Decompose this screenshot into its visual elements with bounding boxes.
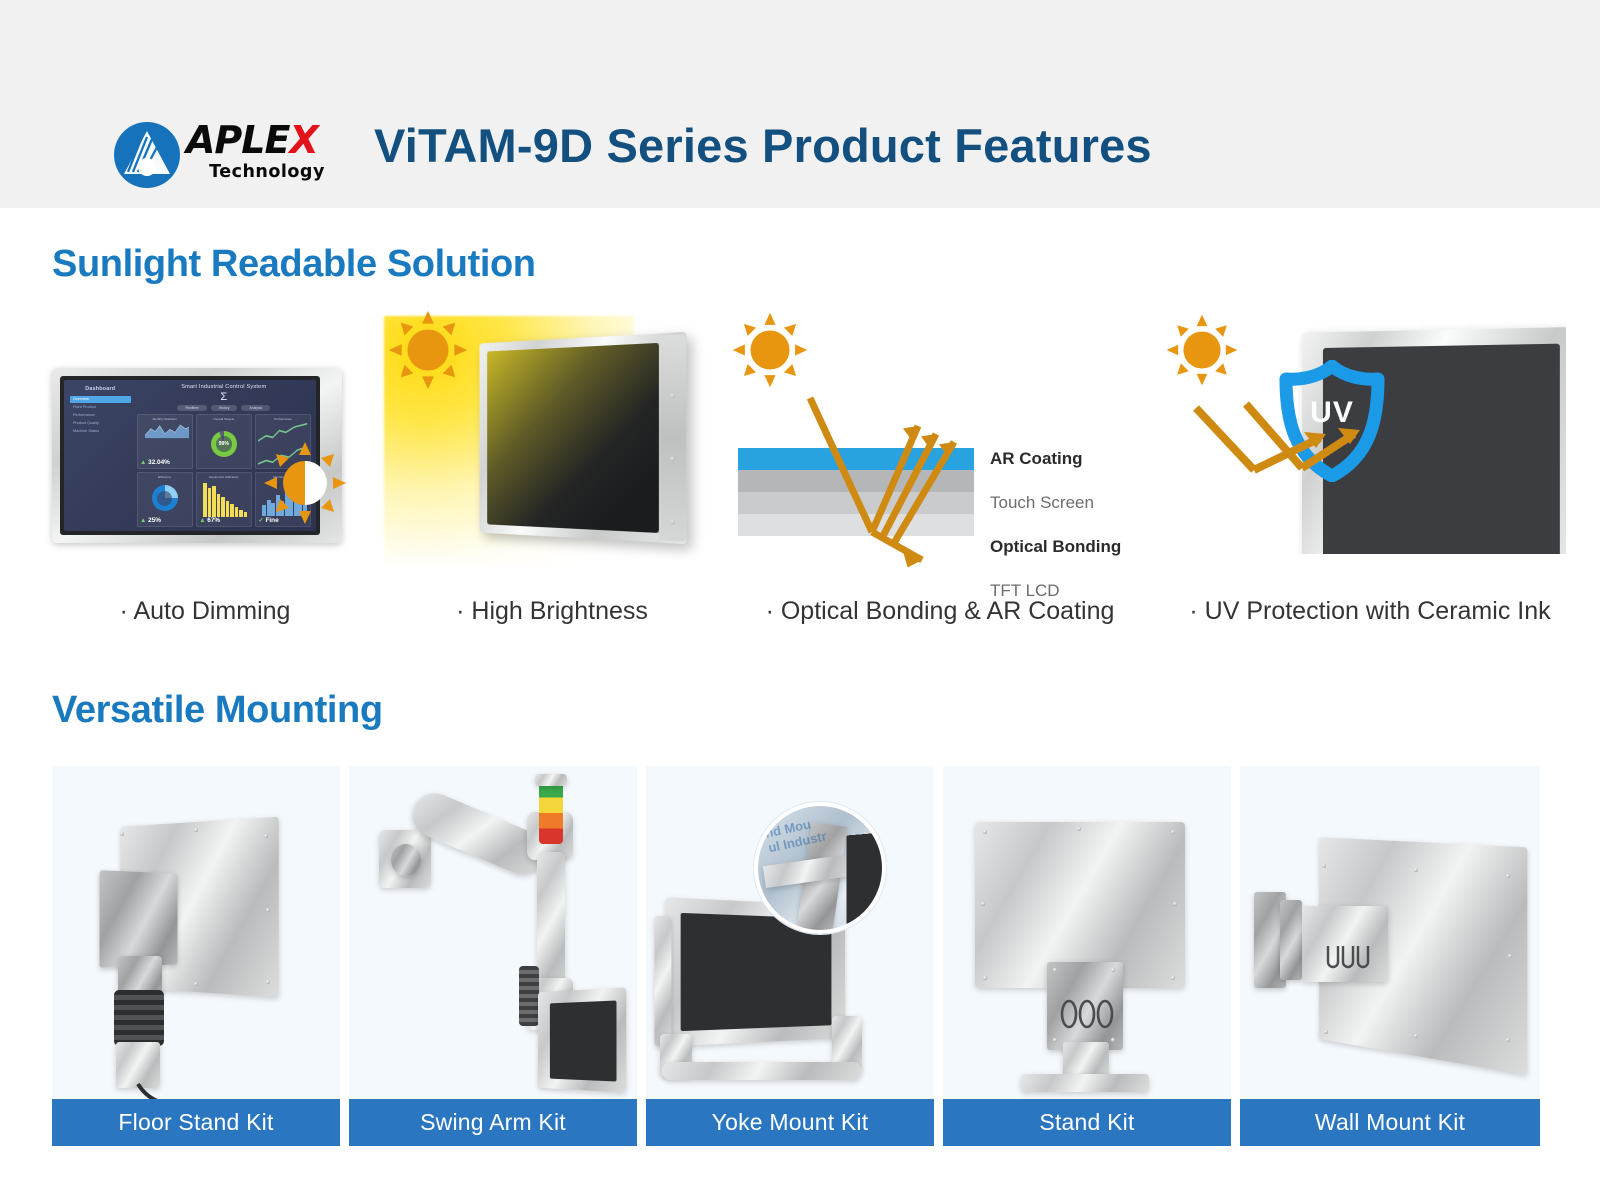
hmi-card-value: 99% [219,441,229,447]
area-chart-icon [140,421,189,459]
auto-dimming-illustration: Dashboard Overview Plant Product Perform… [30,300,380,572]
mount-label-yoke-mount: Yoke Mount Kit [646,1099,934,1146]
hmi-sidebar: Dashboard Overview Plant Product Perform… [64,380,135,531]
panel-screen [487,343,659,533]
cable-loops-icon [1055,994,1119,1034]
hmi-sidebar-title: Dashboard [70,386,131,392]
uv-ray-arrows [1150,300,1590,572]
hmi-sidebar-item-machine-status[interactable]: Machine Status [70,427,131,434]
mount-card-floor-stand[interactable]: Floor Stand Kit [52,766,340,1146]
feature-high-brightness: · High Brightness [378,300,726,640]
hmi-card-overall-targets: Overall Targets 99% [196,414,252,469]
half-sun-icon [262,440,348,526]
hmi-sidebar-item-overview[interactable]: Overview [70,396,131,403]
high-brightness-panel-device [480,332,687,544]
mount-card-wall-mount[interactable]: Wall Mount Kit [1240,766,1540,1146]
hmi-sidebar-item-performance[interactable]: Performance [70,412,131,419]
donut-chart-blue-icon [140,479,189,517]
donut-chart-green-icon: 99% [199,421,248,466]
mount-label-floor-stand: Floor Stand Kit [52,1099,340,1146]
hmi-sigma-logo: Σ [137,391,311,403]
uv-protection-illustration: UV [1150,300,1590,572]
mounting-kit-row: Floor Stand Kit Swing Arm Kit [0,766,1600,1146]
mount-label-stand-kit: Stand Kit [943,1099,1231,1146]
wordmark-main: APLEX [186,120,348,160]
hmi-card-value: ▲ 25% [140,517,189,524]
bracket-bolts-icon [1320,942,1376,974]
sunlight-feature-row: Dashboard Overview Plant Product Perform… [0,300,1600,640]
mount-card-yoke-mount[interactable]: nd Mouul Industr Yoke Mount Kit [646,766,934,1146]
optical-bonding-illustration: AR Coating Touch Screen Optical Bonding … [722,300,1158,572]
hmi-sidebar-item-product-quality[interactable]: Product Quality [70,419,131,426]
caption-high-brightness: · High Brightness [378,597,726,626]
feature-auto-dimming: Dashboard Overview Plant Product Perform… [30,300,380,640]
high-brightness-illustration [378,300,726,572]
sun-glow-icon [386,308,470,392]
hmi-card-efficiency: Efficiency ▲ 25% [137,472,193,527]
hmi-pill-row: Realtime History Analysis [137,405,311,411]
floor-stand-photo [52,766,340,1099]
cable-icon [136,1082,206,1099]
hmi-card-equipment-utilization: Equipment Utilization [196,472,252,527]
light-ray-arrows [722,300,1158,572]
mount-card-stand-kit[interactable]: Stand Kit [943,766,1231,1146]
bar-chart-yellow-icon [199,479,248,517]
wordmark-sub: Technology [186,162,348,182]
caption-uv-protection: · UV Protection with Ceramic Ink [1150,597,1590,626]
yoke-detail-inset: nd Mouul Industr [754,802,886,934]
hmi-card-value: ▲ 32.04% [140,459,189,466]
hmi-title: Smart Industrial Control System [137,384,311,390]
wall-mount-photo [1240,766,1540,1099]
mount-label-wall-mount: Wall Mount Kit [1240,1099,1540,1146]
hmi-sidebar-item-plant-product[interactable]: Plant Product [70,404,131,411]
hmi-pill-realtime[interactable]: Realtime [177,405,206,411]
aplex-wordmark: APLEX Technology [186,120,348,192]
hmi-pill-history[interactable]: History [211,405,238,411]
section-heading-mounting: Versatile Mounting [52,689,383,732]
mount-card-swing-arm[interactable]: Swing Arm Kit [349,766,637,1146]
hmi-pill-analysis[interactable]: Analysis [241,405,270,411]
hmi-card-monthly-statistics: Monthly Statistics ▲ 32.04% [137,414,193,469]
page-header: APLEX Technology ViTAM-9D Series Product… [0,0,1600,208]
caption-auto-dimming: · Auto Dimming [30,597,380,626]
aplex-logo[interactable]: APLEX Technology [114,108,346,196]
mount-label-swing-arm: Swing Arm Kit [349,1099,637,1146]
hmi-card-value: ▲ 67% [199,517,248,524]
feature-optical-bonding: AR Coating Touch Screen Optical Bonding … [722,300,1158,640]
aplex-logo-mark [114,122,180,188]
yoke-mount-photo: nd Mouul Industr [646,766,934,1099]
section-heading-sunlight: Sunlight Readable Solution [52,243,536,286]
stand-kit-photo [943,766,1231,1099]
feature-uv-protection: UV · UV Protection with Ceramic Ink [1150,300,1590,640]
caption-optical-bonding: · Optical Bonding & AR Coating [722,597,1158,626]
page-title: ViTAM-9D Series Product Features [374,118,1152,173]
swing-arm-photo [349,766,637,1099]
